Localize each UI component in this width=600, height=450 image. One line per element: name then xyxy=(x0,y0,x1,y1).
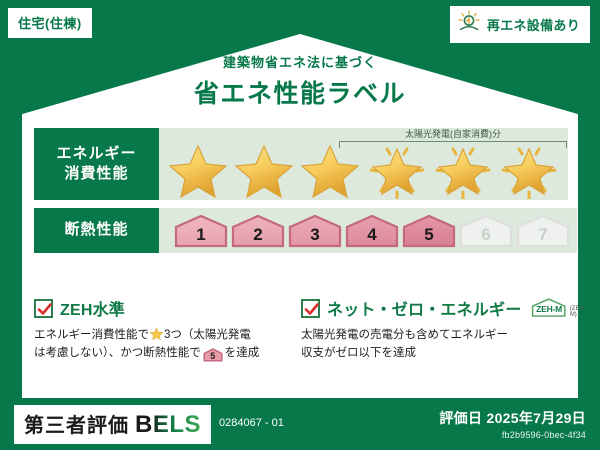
zeh-text-part3: は考慮しない）、かつ断熱性能で xyxy=(34,347,201,359)
star-icon xyxy=(166,141,230,199)
energy-row-label-line2: 消費性能 xyxy=(64,164,128,184)
insulation-row-label-text: 断熱性能 xyxy=(64,220,128,240)
net-zero-criteria-description: 太陽光発電の売電分も含めてエネルギー 収支がゼロ以下を達成 xyxy=(301,326,558,363)
title-main: 省エネ性能ラベル xyxy=(0,74,600,110)
zeh-m-icon-caption: (ZEH-M) xyxy=(570,306,591,320)
insulation-badge-2: 2 xyxy=(230,213,286,249)
zeh-criteria-description: エネルギー消費性能で 3つ（太陽光発電 は考慮しない）、かつ断熱性能で 5を達成 xyxy=(34,326,291,363)
page-title: 建築物省エネ法に基づく 省エネ性能ラベル xyxy=(0,52,600,110)
renewable-badge-label: 再エネ設備あり xyxy=(487,15,580,34)
eval-hash: fb2b9596-0bec-4f34 xyxy=(439,430,586,440)
star-rating-band xyxy=(159,128,568,200)
insulation-performance-row: 断熱性能 1 2 xyxy=(34,208,568,253)
energy-row-label: エネルギー 消費性能 xyxy=(34,128,159,200)
performance-rows: エネルギー 消費性能 太陽光発電(自家消費)分 xyxy=(34,128,568,261)
zeh-inline-level-value: 5 xyxy=(203,348,223,364)
renewable-equipment-badge: 再エネ設備あり xyxy=(450,6,590,43)
eval-date-value: 2025年7月29日 xyxy=(486,410,586,426)
net-zero-criteria-title: ネット・ゼロ・エネルギー xyxy=(327,296,521,320)
zeh-criteria-header: ZEH水準 xyxy=(34,296,291,320)
insulation-badge-value: 5 xyxy=(424,225,433,249)
insulation-badge-value: 3 xyxy=(310,225,319,249)
footer-eval-info: 評価日 2025年7月29日 fb2b9596-0bec-4f34 xyxy=(439,408,586,440)
energy-performance-label: 住宅(住棟) 再エネ設備あり 建築物省エネ法に基づく 省エネ性能ラベル xyxy=(0,0,600,450)
eval-date-label: 評価日 xyxy=(439,410,482,426)
insulation-row-label: 断熱性能 xyxy=(34,208,159,253)
star-icon xyxy=(149,326,164,341)
net-zero-text-line2: 収支がゼロ以下を達成 xyxy=(301,347,416,359)
footer-bar: 第三者評価 BELS 0284067 - 01 評価日 2025年7月29日 f… xyxy=(0,398,600,450)
solar-sun-icon xyxy=(456,10,482,39)
insulation-badge-5: 5 xyxy=(401,213,457,249)
insulation-badge-value: 4 xyxy=(367,225,376,249)
insulation-badge-4: 4 xyxy=(344,213,400,249)
eval-date: 評価日 2025年7月29日 xyxy=(439,408,586,428)
bels-plate: 第三者評価 BELS xyxy=(14,405,211,444)
star-icon xyxy=(298,141,362,199)
star-icon-with-rays xyxy=(497,141,561,199)
house-type-tag: 住宅(住棟) xyxy=(8,8,92,38)
net-zero-criteria-header: ネット・ゼロ・エネルギー ZEH-M (ZEH-M) xyxy=(301,296,558,320)
check-icon xyxy=(37,302,52,317)
third-party-eval-label: 第三者評価 xyxy=(24,409,129,438)
zeh-criteria-block: ZEH水準 エネルギー消費性能で 3つ（太陽光発電 は考慮しない）、かつ断熱性能… xyxy=(34,296,301,363)
zeh-inline-level-badge: 5 xyxy=(203,348,223,362)
insulation-badge-6: 6 xyxy=(458,213,514,249)
insulation-badge-value: 7 xyxy=(538,225,547,249)
insulation-badge-3: 3 xyxy=(287,213,343,249)
net-zero-criteria-block: ネット・ゼロ・エネルギー ZEH-M (ZEH-M) 太陽光発電の売電分も含めて… xyxy=(301,296,568,363)
insulation-badge-1: 1 xyxy=(173,213,229,249)
insulation-badge-7: 7 xyxy=(515,213,571,249)
net-zero-checkbox[interactable] xyxy=(301,299,320,318)
zeh-checkbox[interactable] xyxy=(34,299,53,318)
insulation-badge-band: 1 2 3 xyxy=(159,208,577,253)
zeh-text-part1: エネルギー消費性能で xyxy=(34,329,149,341)
zeh-criteria-title: ZEH水準 xyxy=(60,296,125,320)
bels-logo-text: BELS xyxy=(135,411,201,439)
star-icon xyxy=(232,141,296,199)
net-zero-text-line1: 太陽光発電の売電分も含めてエネルギー xyxy=(301,329,508,341)
zeh-text-part4: を達成 xyxy=(225,347,260,359)
energy-performance-row: エネルギー 消費性能 太陽光発電(自家消費)分 xyxy=(34,128,568,200)
zeh-m-icon-label: ZEH-M xyxy=(529,304,568,314)
star-icon-with-rays xyxy=(431,141,495,199)
insulation-badge-value: 6 xyxy=(481,225,490,249)
insulation-badge-value: 2 xyxy=(253,225,262,249)
check-icon xyxy=(304,302,319,317)
title-subtitle: 建築物省エネ法に基づく xyxy=(0,52,600,71)
zeh-text-part2: 3つ（太陽光発電 xyxy=(164,329,251,341)
star-icon-with-rays xyxy=(365,141,429,199)
criteria-section: ZEH水準 エネルギー消費性能で 3つ（太陽光発電 は考慮しない）、かつ断熱性能… xyxy=(34,296,568,363)
energy-row-label-line1: エネルギー xyxy=(56,144,136,164)
zeh-m-house-icon: ZEH-M (ZEH-M) xyxy=(529,296,590,320)
bels-id: 0284067 - 01 xyxy=(219,417,284,431)
insulation-badge-value: 1 xyxy=(196,225,205,249)
